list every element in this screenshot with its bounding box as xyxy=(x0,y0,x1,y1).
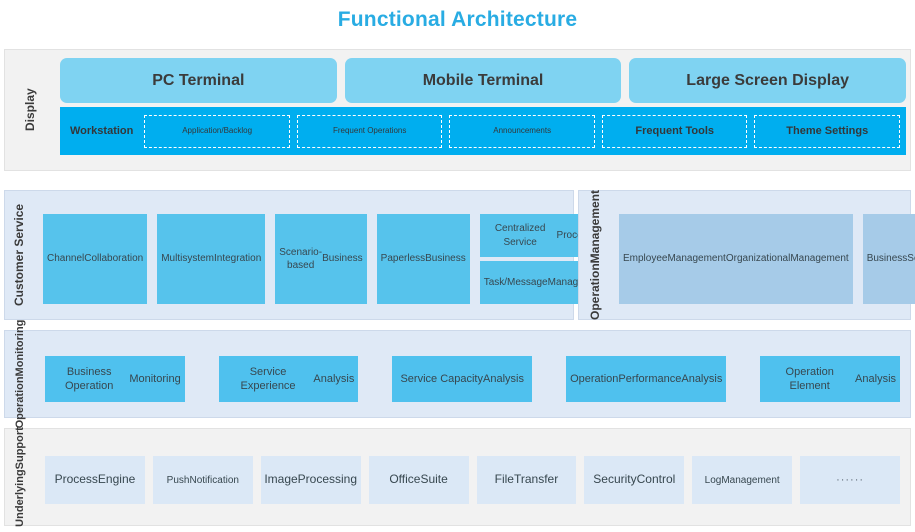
operation-monitoring-layer-body: Business OperationMonitoring Service Exp… xyxy=(37,331,910,417)
operation-management-layer: OperationManagement EmployeeManagementOr… xyxy=(578,190,911,320)
sup-item-push-notification[interactable]: PushNotification xyxy=(153,456,253,504)
sup-item-more-ellipsis: ······ xyxy=(800,456,900,504)
cs-item-multisystem-integration[interactable]: MultisystemIntegration xyxy=(157,214,265,304)
terminal-row: PC Terminal Mobile Terminal Large Screen… xyxy=(60,58,906,103)
sup-item-image-processing[interactable]: ImageProcessing xyxy=(261,456,361,504)
workstation-item-frequent-tools[interactable]: Frequent Tools xyxy=(602,115,748,148)
terminal-large-screen[interactable]: Large Screen Display xyxy=(629,58,906,103)
underlying-support-row: ProcessEngine PushNotification ImageProc… xyxy=(45,456,900,504)
operation-monitoring-row: Business OperationMonitoring Service Exp… xyxy=(45,356,900,402)
operation-monitoring-layer: OperationMonitoring Business OperationMo… xyxy=(4,330,911,418)
display-layer-body: PC Terminal Mobile Terminal Large Screen… xyxy=(57,50,910,170)
underlying-support-layer-body: ProcessEngine PushNotification ImageProc… xyxy=(37,429,910,525)
terminal-mobile[interactable]: Mobile Terminal xyxy=(345,58,622,103)
mon-item-business-operation-monitoring[interactable]: Business OperationMonitoring xyxy=(45,356,185,402)
cs-item-scenario-based-business[interactable]: Scenario-basedBusiness xyxy=(275,214,366,304)
page-title: Functional Architecture xyxy=(0,8,915,32)
om-item-business-scenario-management[interactable]: BusinessScenarioManagement xyxy=(863,214,915,304)
workstation-item-frequent-operations[interactable]: Frequent Operations xyxy=(297,115,443,148)
workstation-label: Workstation xyxy=(66,125,137,137)
operation-management-layer-body: EmployeeManagementOrganizationalManageme… xyxy=(613,191,910,319)
display-layer-label: Display xyxy=(5,50,57,170)
operation-management-row: EmployeeManagementOrganizationalManageme… xyxy=(619,214,902,304)
om-item-employee-management[interactable]: EmployeeManagementOrganizationalManageme… xyxy=(619,214,853,304)
mon-item-operation-performance-analysis[interactable]: OperationPerformanceAnalysis xyxy=(566,356,726,402)
customer-service-layer: Customer Service ChannelCollaboration Mu… xyxy=(4,190,574,320)
customer-service-layer-body: ChannelCollaboration MultisystemIntegrat… xyxy=(35,191,573,319)
customer-service-layer-label: Customer Service xyxy=(5,191,35,319)
display-layer: Display PC Terminal Mobile Terminal Larg… xyxy=(4,49,911,171)
mon-item-service-capacity-analysis[interactable]: Service CapacityAnalysis xyxy=(392,356,532,402)
workstation-item-application-backlog[interactable]: Application/Backlog xyxy=(144,115,290,148)
mon-item-operation-element-analysis[interactable]: Operation ElementAnalysis xyxy=(760,356,900,402)
workstation-item-theme-settings[interactable]: Theme Settings xyxy=(754,115,900,148)
workstation-row: Workstation Application/Backlog Frequent… xyxy=(60,107,906,155)
functional-architecture-diagram: Functional Architecture Display PC Termi… xyxy=(0,0,915,532)
cs-item-paperless-business[interactable]: PaperlessBusiness xyxy=(377,214,470,304)
sup-item-security-control[interactable]: SecurityControl xyxy=(584,456,684,504)
cs-item-channel-collaboration[interactable]: ChannelCollaboration xyxy=(43,214,147,304)
sup-item-process-engine[interactable]: ProcessEngine xyxy=(45,456,145,504)
customer-service-row: ChannelCollaboration MultisystemIntegrat… xyxy=(43,214,563,304)
sup-item-file-transfer[interactable]: FileTransfer xyxy=(477,456,577,504)
workstation-item-announcements[interactable]: Announcements xyxy=(449,115,595,148)
terminal-pc[interactable]: PC Terminal xyxy=(60,58,337,103)
mon-item-service-experience-analysis[interactable]: Service ExperienceAnalysis xyxy=(219,356,359,402)
sup-item-log-management[interactable]: LogManagement xyxy=(692,456,792,504)
sup-item-office-suite[interactable]: OfficeSuite xyxy=(369,456,469,504)
underlying-support-layer: UnderlyingSupport ProcessEngine PushNoti… xyxy=(4,428,911,526)
